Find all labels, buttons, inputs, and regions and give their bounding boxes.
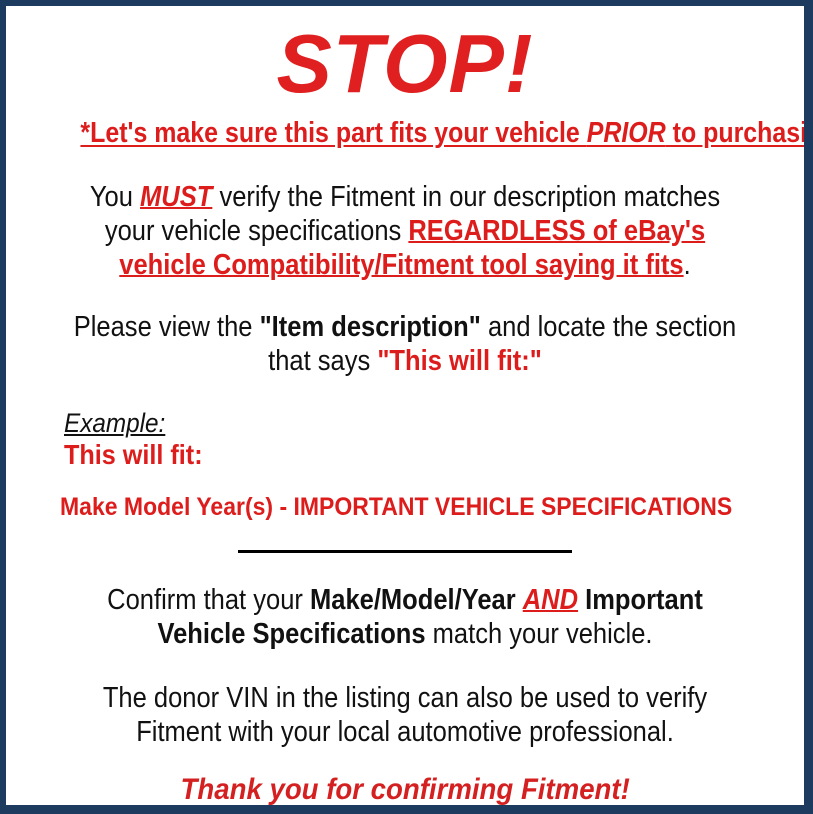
must-part1: You [90, 181, 140, 213]
view-part1: Please view the [74, 311, 260, 343]
confirm-paragraph: Confirm that your Make/Model/Year AND Im… [16, 583, 794, 651]
example-label-row: Example: [64, 408, 794, 438]
tagline-before: *Let's make sure this part fits your veh… [80, 117, 586, 149]
page-title: STOP! [276, 17, 533, 110]
this-will-fit-emphasis: "This will fit:" [377, 345, 542, 377]
item-description-emphasis: "Item description" [260, 311, 481, 343]
donor-vin-paragraph: The donor VIN in the listing can also be… [16, 681, 794, 749]
fit-label-row: This will fit: [64, 438, 794, 471]
tagline-after: to purchasing* [666, 117, 813, 149]
must-verify-paragraph: You MUST verify the Fitment in our descr… [16, 180, 794, 282]
example-label: Example: [64, 408, 165, 438]
confirm-part1: Confirm that your [107, 584, 310, 616]
tagline-emphasis: PRIOR [587, 117, 666, 149]
tagline-text: *Let's make sure this part fits your veh… [80, 116, 813, 150]
horizontal-divider [238, 550, 572, 553]
example-block: Example: This will fit: [16, 408, 794, 471]
item-description-paragraph: Please view the "Item description" and l… [16, 310, 794, 378]
this-will-fit-label: This will fit: [64, 439, 203, 471]
must-emphasis: MUST [140, 181, 212, 213]
must-part3: . [684, 249, 691, 281]
tagline-row: *Let's make sure this part fits your veh… [16, 116, 794, 154]
closing-message: Thank you for confirming Fitment! [180, 773, 629, 807]
confirm-part2: match your vehicle. [426, 618, 653, 650]
fitment-notice-card: STOP! *Let's make sure this part fits yo… [0, 0, 813, 814]
vehicle-spec-sample: Make Model Year(s) - IMPORTANT VEHICLE S… [60, 493, 732, 521]
closing-row: Thank you for confirming Fitment! [16, 773, 794, 807]
spec-sample-row: Make Model Year(s) - IMPORTANT VEHICLE S… [16, 493, 794, 521]
donor-vin-text: The donor VIN in the listing can also be… [71, 681, 738, 749]
and-emphasis: AND [523, 584, 578, 616]
make-model-year-emphasis: Make/Model/Year [310, 584, 523, 616]
notice-content: STOP! *Let's make sure this part fits yo… [6, 6, 804, 805]
divider-row [16, 543, 794, 557]
headline-row: STOP! [16, 6, 794, 116]
